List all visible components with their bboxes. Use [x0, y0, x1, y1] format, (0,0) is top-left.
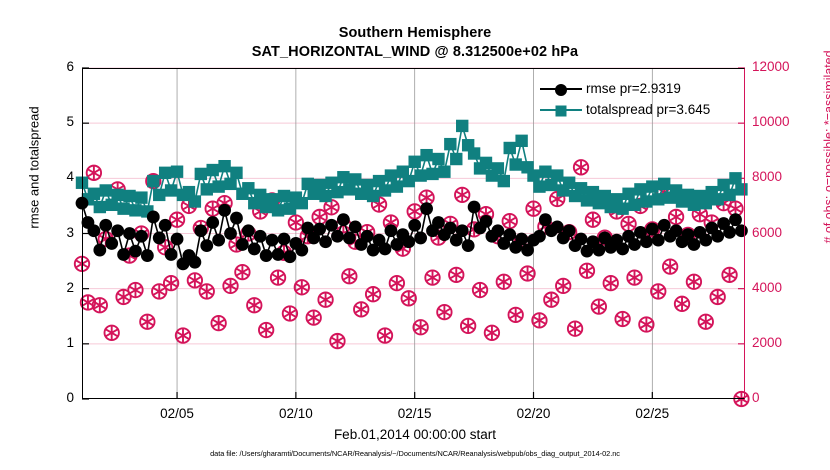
x-tick-02-15: 02/15 [375, 406, 455, 421]
legend-marker-circle-icon [540, 82, 582, 96]
y-tick-right-2000: 2000 [752, 335, 822, 350]
y-tick-right-12000: 12000 [752, 59, 822, 74]
legend-label-rmse: rmse pr=2.9319 [586, 78, 681, 99]
chart-legend: rmse pr=2.9319 totalspread pr=3.645 [540, 78, 710, 120]
chart-page: Southern Hemisphere SAT_HORIZONTAL_WIND … [0, 0, 830, 470]
x-tick-02-20: 02/20 [494, 406, 574, 421]
x-tick-02-05: 02/05 [137, 406, 217, 421]
data-file-footer: data file: /Users/gharamti/Documents/NCA… [0, 449, 830, 458]
y-tick-right-6000: 6000 [752, 225, 822, 240]
legend-item-totalspread[interactable]: totalspread pr=3.645 [540, 99, 710, 120]
legend-label-totalspread: totalspread pr=3.645 [586, 99, 710, 120]
y-axis-right-label: # of obs: o=possible; *=assimilated [822, 0, 830, 312]
y-tick-right-8000: 8000 [752, 169, 822, 184]
y-axis-left-label: rmse and totalspread [27, 18, 42, 318]
y-tick-left-1: 1 [34, 335, 74, 350]
legend-item-rmse[interactable]: rmse pr=2.9319 [540, 78, 710, 99]
y-tick-left-0: 0 [34, 390, 74, 405]
y-tick-right-10000: 10000 [752, 114, 822, 129]
y-tick-right-0: 0 [752, 390, 822, 405]
x-tick-02-25: 02/25 [612, 406, 692, 421]
y-tick-right-4000: 4000 [752, 280, 822, 295]
legend-marker-square-icon [540, 103, 582, 117]
x-tick-02-10: 02/10 [256, 406, 336, 421]
x-axis-label: Feb.01,2014 00:00:00 start [0, 427, 830, 442]
